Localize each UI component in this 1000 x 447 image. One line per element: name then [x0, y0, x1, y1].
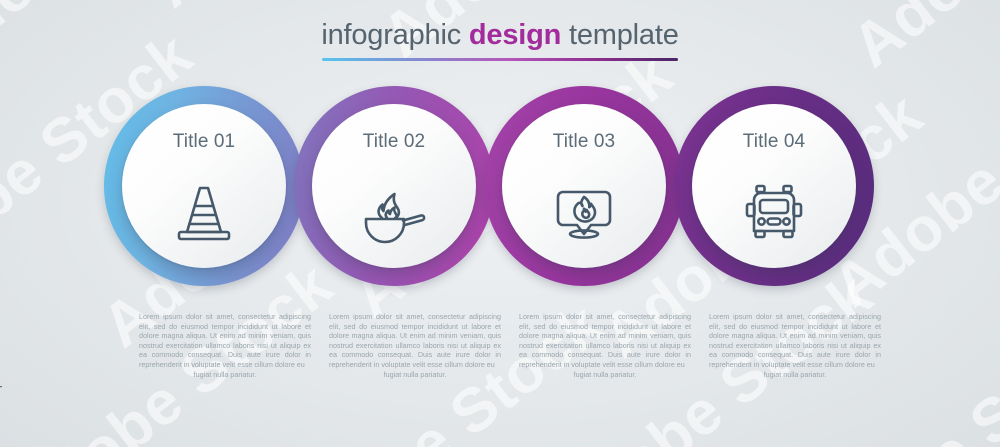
step-description-text-1: Lorem ipsum dolor sit amet, consectetur … [139, 312, 311, 369]
step-card-3[interactable]: Title 03 [502, 104, 666, 268]
step-description-2: Lorem ipsum dolor sit amet, consectetur … [329, 312, 501, 379]
page-title-line: infographic design template [0, 18, 1000, 52]
step-card-1[interactable]: Title 01 [122, 104, 286, 268]
step-description-text-4: Lorem ipsum dolor sit amet, consectetur … [709, 312, 881, 369]
flaming-frying-pan-icon [356, 178, 432, 246]
fire-truck-icon [736, 178, 812, 246]
step-description-lastline-1: fugiat nulla pariatur. [139, 370, 311, 380]
step-description-text-3: Lorem ipsum dolor sit amet, consectetur … [519, 312, 691, 369]
step-title-3: Title 03 [502, 131, 666, 153]
title-part-one: infographic [321, 19, 469, 51]
step-description-lastline-4: fugiat nulla pariatur. [709, 370, 881, 380]
title-part-three: template [561, 19, 679, 51]
step-title-2: Title 02 [312, 131, 476, 153]
step-card-4[interactable]: Title 04 [692, 104, 856, 268]
page-title: infographic design template [0, 18, 1000, 61]
step-description-1: Lorem ipsum dolor sit amet, consectetur … [139, 312, 311, 379]
step-card-2[interactable]: Title 02 [312, 104, 476, 268]
watermark-tile: Adobe Stock [629, 0, 976, 12]
title-underline-rule [322, 58, 678, 61]
fire-location-pin-icon [546, 178, 622, 246]
step-description-lastline-2: fugiat nulla pariatur. [329, 370, 501, 380]
step-title-4: Title 04 [692, 131, 856, 153]
step-title-1: Title 01 [122, 131, 286, 153]
infographic-canvas: Adobe Stock Adobe Stock Adobe Stock Adob… [0, 0, 1000, 447]
step-ring-row: Title 01 Title 02 [0, 86, 1000, 286]
step-description-lastline-3: fugiat nulla pariatur. [519, 370, 691, 380]
step-description-3: Lorem ipsum dolor sit amet, consectetur … [519, 312, 691, 379]
step-description-row: Lorem ipsum dolor sit amet, consectetur … [0, 312, 1000, 422]
title-accent-word: design [469, 19, 561, 51]
traffic-cone-icon [166, 178, 242, 246]
step-description-text-2: Lorem ipsum dolor sit amet, consectetur … [329, 312, 501, 369]
stock-credit-watermark: Adobe Stock | #511192202 [0, 336, 2, 443]
step-description-4: Lorem ipsum dolor sit amet, consectetur … [709, 312, 881, 379]
